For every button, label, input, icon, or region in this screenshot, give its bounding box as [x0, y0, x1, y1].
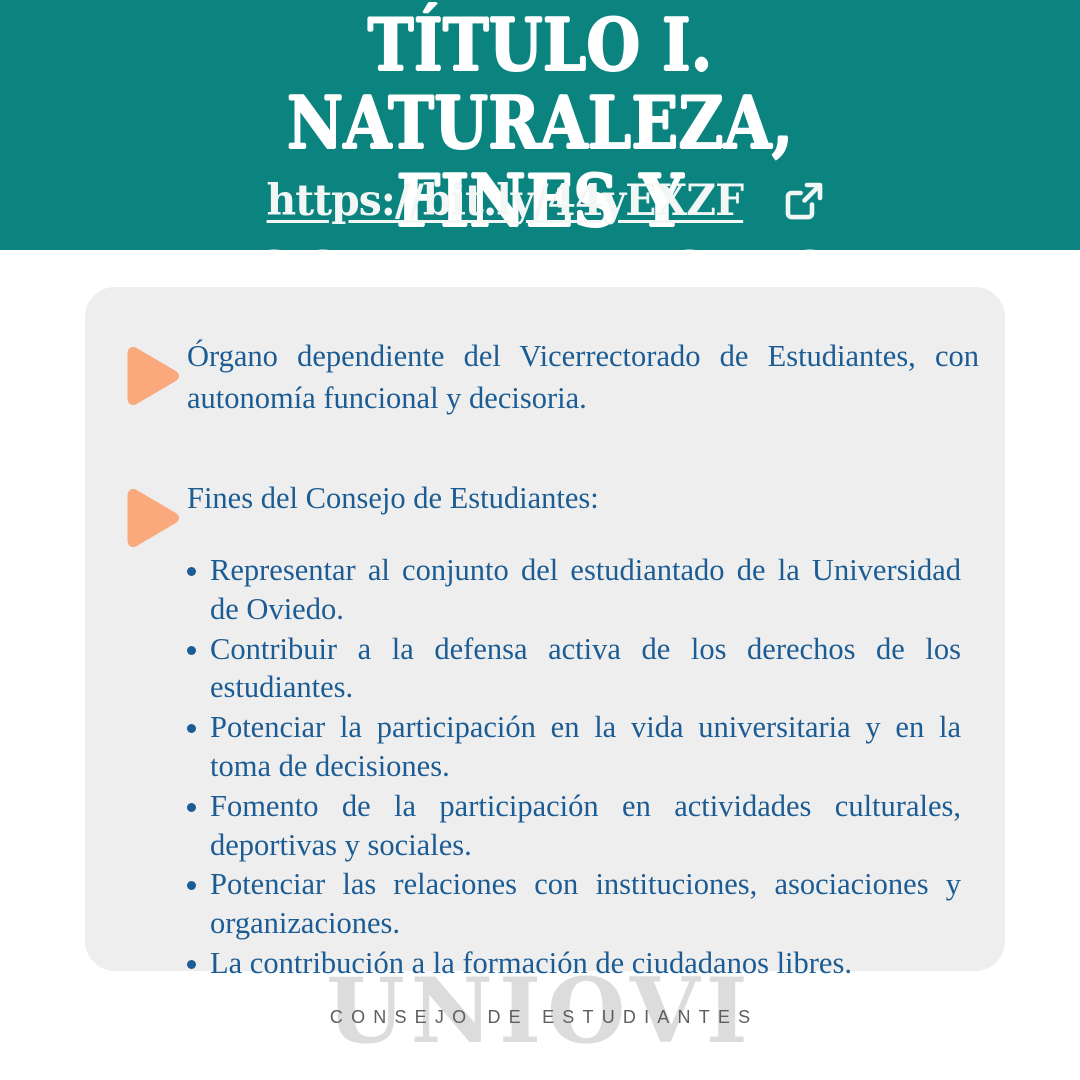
list-item: Contribuir a la defensa activa de los de…: [210, 630, 961, 708]
list-item-label: Potenciar la participación en la vida un…: [210, 710, 961, 783]
footer-logo: UNIOVI CONSEJO DE ESTUDIANTES: [0, 963, 1080, 1080]
footer-logo-inner: UNIOVI CONSEJO DE ESTUDIANTES: [320, 967, 760, 1077]
list-item-label: Potenciar las relaciones con institucion…: [210, 867, 961, 940]
url-row: https://bit.ly/44yEXZF: [0, 176, 1080, 226]
arrow-marker-icon: [127, 343, 181, 409]
arrow-marker-icon: [127, 485, 181, 551]
list-item: Potenciar las relaciones con institucion…: [210, 865, 961, 943]
page-title: Título I. Naturaleza, fines y competenci…: [110, 6, 970, 318]
bullet-dot-icon: [187, 646, 196, 655]
bullet-dot-icon: [187, 881, 196, 890]
bullet-dot-icon: [187, 724, 196, 733]
fines-list: Representar al conjunto del estudiantado…: [109, 551, 981, 983]
uniovi-subtitle: CONSEJO DE ESTUDIANTES: [320, 1005, 760, 1029]
highlight-block-organo: Órgano dependiente del Vicerrectorado de…: [109, 335, 981, 419]
list-item-label: Representar al conjunto del estudiantado…: [210, 553, 961, 626]
list-item: Potenciar la participación en la vida un…: [210, 708, 961, 786]
highlight-block-fines: Fines del Consejo de Estudiantes:: [109, 477, 981, 537]
list-item-label: Fomento de la participación en actividad…: [210, 789, 961, 862]
bullet-dot-icon: [187, 567, 196, 576]
bullet-dot-icon: [187, 803, 196, 812]
content-card: Órgano dependiente del Vicerrectorado de…: [85, 287, 1005, 971]
external-link-icon[interactable]: [782, 179, 826, 223]
list-item: Representar al conjunto del estudiantado…: [210, 551, 961, 629]
block-text-fines: Fines del Consejo de Estudiantes:: [187, 477, 981, 519]
list-item-label: Contribuir a la defensa activa de los de…: [210, 632, 961, 705]
bitly-url-link[interactable]: https://bit.ly/44yEXZF: [267, 176, 744, 226]
list-item: Fomento de la participación en actividad…: [210, 787, 961, 865]
header-band: Título I. Naturaleza, fines y competenci…: [0, 0, 1080, 250]
block-text-organo: Órgano dependiente del Vicerrectorado de…: [187, 335, 981, 419]
